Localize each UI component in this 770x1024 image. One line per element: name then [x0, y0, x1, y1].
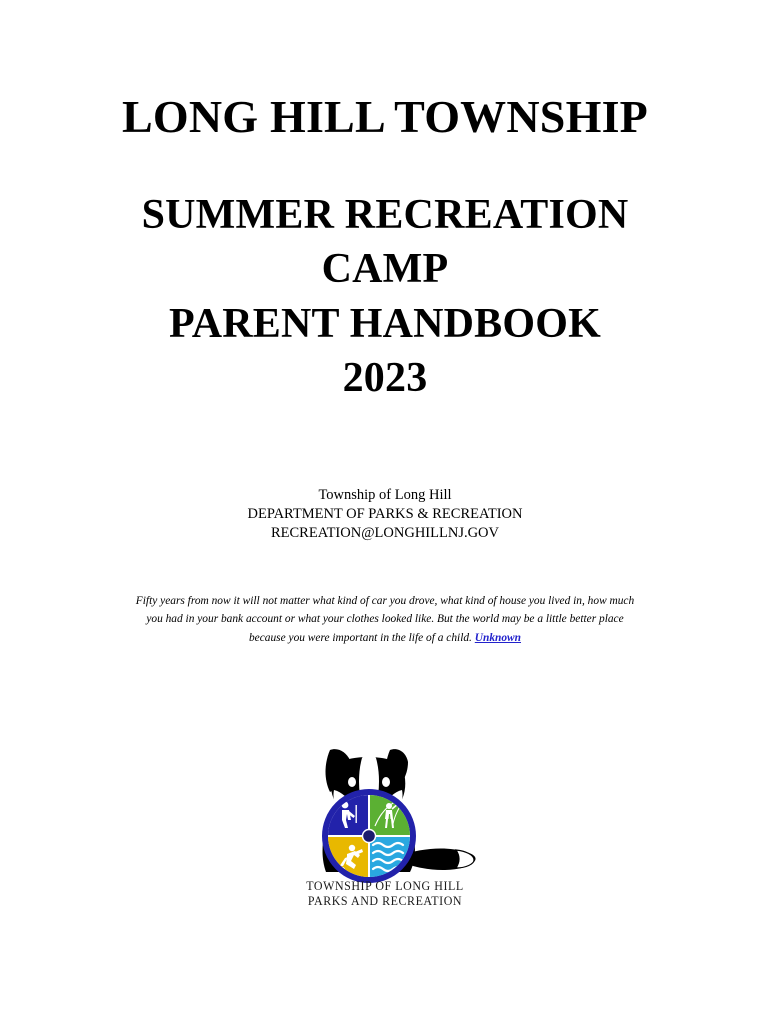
- inspirational-quote: Fifty years from now it will not matter …: [85, 592, 685, 647]
- quote-line-2: you had in your bank account or what you…: [85, 610, 685, 628]
- quote-line-3-text: because you were important in the life o…: [249, 632, 472, 644]
- title-line-year: 2023: [0, 351, 770, 406]
- quote-line-1: Fifty years from now it will not matter …: [85, 592, 685, 610]
- title-subtitle-group: SUMMER RECREATION CAMP PARENT HANDBOOK 2…: [0, 188, 770, 406]
- handbook-cover-page: LONG HILL TOWNSHIP SUMMER RECREATION CAM…: [0, 0, 770, 1024]
- quote-attribution-link[interactable]: Unknown: [475, 632, 521, 644]
- dog-eye-left: [348, 777, 356, 787]
- contact-township: Township of Long Hill: [0, 486, 770, 505]
- page-title: LONG HILL TOWNSHIP SUMMER RECREATION CAM…: [0, 92, 770, 406]
- quote-line-3: because you were important in the life o…: [85, 629, 685, 647]
- contact-block: Township of Long Hill DEPARTMENT OF PARK…: [0, 486, 770, 543]
- dog-tail-tip: [456, 850, 474, 868]
- logo-caption: TOWNSHIP OF LONG HILL PARKS AND RECREATI…: [31, 878, 739, 909]
- logo-caption-line-1: TOWNSHIP OF LONG HILL: [31, 878, 739, 893]
- dog-eye-right: [382, 777, 390, 787]
- contact-email[interactable]: RECREATION@LONGHILLNJ.GOV: [0, 524, 770, 543]
- township-logo: [0, 738, 770, 888]
- title-line-parent-handbook: PARENT HANDBOOK: [0, 297, 770, 352]
- emblem-hub: [363, 830, 376, 843]
- title-line-township: LONG HILL TOWNSHIP: [0, 92, 770, 142]
- title-spacer: [0, 142, 770, 188]
- logo-graphic: [270, 738, 500, 888]
- title-line-camp: CAMP: [0, 242, 770, 297]
- parks-recreation-emblem: [325, 792, 413, 880]
- title-line-summer-recreation: SUMMER RECREATION: [0, 188, 770, 243]
- logo-caption-line-2: PARKS AND RECREATION: [31, 893, 739, 908]
- contact-department: DEPARTMENT OF PARKS & RECREATION: [0, 505, 770, 524]
